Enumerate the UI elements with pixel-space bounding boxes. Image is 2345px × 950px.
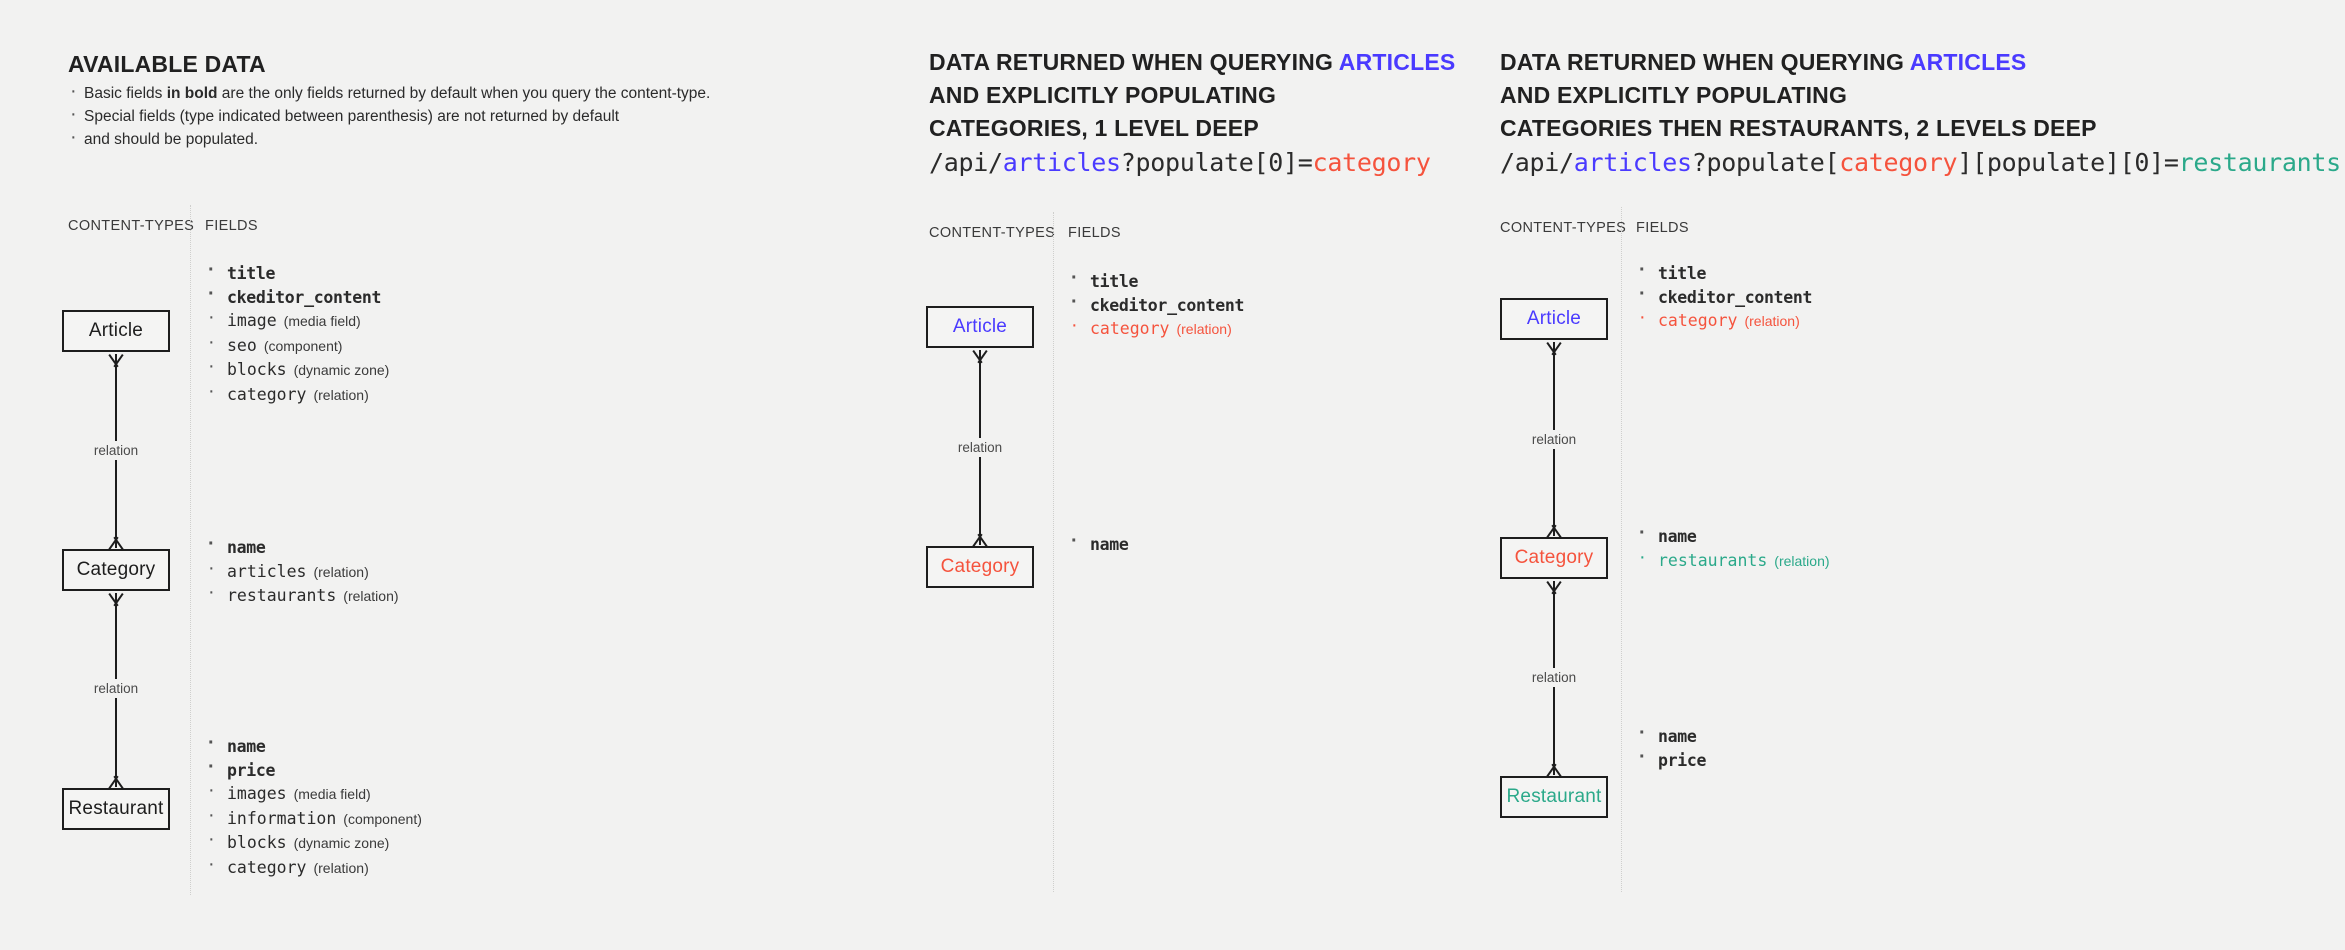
field-row: ckeditor_content [1068, 294, 1244, 318]
url-part-articles: articles [1574, 148, 1692, 177]
heading-text: DATA RETURNED WHEN QUERYING [1500, 49, 1910, 75]
field-group-restaurant: name price images(media field) informati… [205, 735, 422, 880]
entity-box-article[interactable]: Article [1500, 298, 1608, 340]
entity-label: Category [941, 556, 1020, 578]
field-group-category: name restaurants(relation) [1636, 525, 1830, 573]
page-title: AVAILABLE DATA [68, 48, 266, 81]
field-row: articles(relation) [205, 560, 399, 585]
field-row: category(relation) [205, 856, 422, 881]
field-row: image(media field) [205, 309, 389, 334]
entity-label: Article [953, 316, 1007, 338]
column-label-fields: FIELDS [1636, 220, 1689, 236]
field-group-category: name [1068, 533, 1129, 557]
entity-box-restaurant[interactable]: Restaurant [1500, 776, 1608, 818]
column-divider [1053, 212, 1055, 892]
entity-label: Restaurant [1507, 786, 1602, 808]
field-row: name [1636, 525, 1830, 549]
intro-note-2-cont: and should be populated. [68, 129, 768, 150]
field-row: name [205, 536, 399, 560]
relation-label: relation [89, 679, 143, 698]
relation-label: relation [1527, 668, 1581, 687]
api-url: /api/articles?populate[0]=category [929, 148, 1431, 178]
url-part-category: category [1313, 148, 1431, 177]
field-row: title [205, 262, 389, 286]
panel-available-data: AVAILABLE DATA Basic fields in bold are … [0, 0, 855, 950]
url-part: ][populate][0]= [1957, 148, 2178, 177]
url-part-category: category [1839, 148, 1957, 177]
url-part: ?populate[0]= [1121, 148, 1313, 177]
panel-heading-line-1: DATA RETURNED WHEN QUERYING ARTICLES [1500, 46, 2026, 79]
field-row: ckeditor_content [1636, 286, 1812, 310]
field-row: blocks(dynamic zone) [205, 831, 422, 856]
url-part: ?populate[ [1692, 148, 1840, 177]
entity-box-restaurant[interactable]: Restaurant [62, 788, 170, 830]
panel-query-one-level: DATA RETURNED WHEN QUERYING ARTICLES AND… [855, 0, 1500, 950]
column-divider [190, 205, 192, 895]
entity-label: Article [1527, 308, 1581, 330]
entity-label: Category [77, 559, 156, 581]
column-label-content-types: CONTENT-TYPES [68, 218, 194, 234]
field-row: blocks(dynamic zone) [205, 358, 389, 383]
field-row: information(component) [205, 807, 422, 832]
field-row: seo(component) [205, 334, 389, 359]
panel-heading-line-2: AND EXPLICITLY POPULATING [929, 79, 1276, 112]
entity-label: Restaurant [69, 798, 164, 820]
field-row: category(relation) [1068, 317, 1244, 342]
panel-heading-line-3: CATEGORIES THEN RESTAURANTS, 2 LEVELS DE… [1500, 112, 2097, 145]
panel-heading-line-2: AND EXPLICITLY POPULATING [1500, 79, 1847, 112]
entity-box-category[interactable]: Category [926, 546, 1034, 588]
entity-label: Category [1515, 547, 1594, 569]
field-row: title [1636, 262, 1812, 286]
field-row: category(relation) [1636, 309, 1812, 334]
panel-query-two-levels: DATA RETURNED WHEN QUERYING ARTICLES AND… [1500, 0, 2345, 950]
api-url: /api/articles?populate[category][populat… [1500, 148, 2341, 178]
field-row: title [1068, 270, 1244, 294]
heading-highlight: ARTICLES [1910, 49, 2027, 75]
entity-label: Article [89, 320, 143, 342]
intro-note-1: Basic fields in bold are the only fields… [68, 83, 768, 104]
heading-highlight: ARTICLES [1339, 49, 1456, 75]
intro-note-2: Special fields (type indicated between p… [68, 106, 768, 127]
field-row: name [1068, 533, 1129, 557]
heading-text: DATA RETURNED WHEN QUERYING [929, 49, 1339, 75]
entity-box-category[interactable]: Category [1500, 537, 1608, 579]
field-row: ckeditor_content [205, 286, 389, 310]
entity-box-article[interactable]: Article [926, 306, 1034, 348]
field-row: name [205, 735, 422, 759]
field-row: price [205, 759, 422, 783]
entity-box-article[interactable]: Article [62, 310, 170, 352]
column-divider [1621, 207, 1623, 892]
panel-heading-line-3: CATEGORIES, 1 LEVEL DEEP [929, 112, 1259, 145]
url-part-articles: articles [1003, 148, 1121, 177]
entity-box-category[interactable]: Category [62, 549, 170, 591]
diagram-canvas: AVAILABLE DATA Basic fields in bold are … [0, 0, 2345, 950]
field-row: restaurants(relation) [205, 584, 399, 609]
field-row: price [1636, 749, 1706, 773]
field-group-restaurant: name price [1636, 725, 1706, 772]
column-label-fields: FIELDS [205, 218, 258, 234]
relation-label: relation [89, 441, 143, 460]
field-row: name [1636, 725, 1706, 749]
relation-label: relation [1527, 430, 1581, 449]
column-label-fields: FIELDS [1068, 225, 1121, 241]
field-row: restaurants(relation) [1636, 549, 1830, 574]
intro-notes: Basic fields in bold are the only fields… [68, 83, 768, 152]
url-part-restaurants: restaurants [2179, 148, 2341, 177]
url-part: /api/ [1500, 148, 1574, 177]
panel-heading-line-1: DATA RETURNED WHEN QUERYING ARTICLES [929, 46, 1455, 79]
url-part: /api/ [929, 148, 1003, 177]
field-group-article: title ckeditor_content image(media field… [205, 262, 389, 407]
field-group-article: title ckeditor_content category(relation… [1636, 262, 1812, 334]
field-group-article: title ckeditor_content category(relation… [1068, 270, 1244, 342]
column-label-content-types: CONTENT-TYPES [1500, 220, 1626, 236]
field-row: category(relation) [205, 383, 389, 408]
column-label-content-types: CONTENT-TYPES [929, 225, 1055, 241]
relation-label: relation [953, 438, 1007, 457]
field-row: images(media field) [205, 782, 422, 807]
field-group-category: name articles(relation) restaurants(rela… [205, 536, 399, 609]
